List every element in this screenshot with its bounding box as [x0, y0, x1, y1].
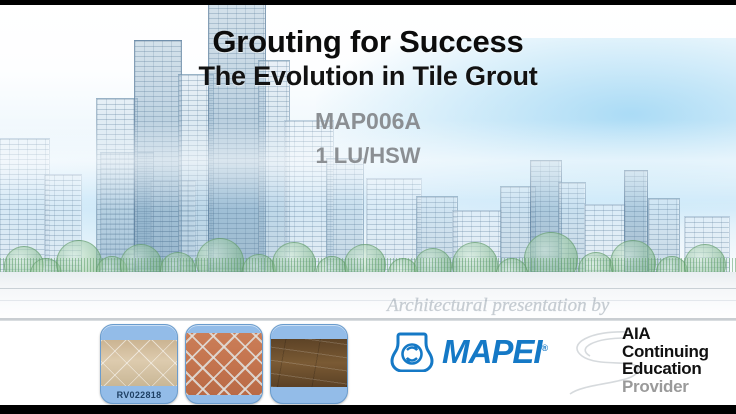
aia-line-1: AIA: [622, 325, 709, 343]
aia-line-4: Provider: [622, 378, 709, 396]
dark-wood-plank-tile-icon: [271, 339, 347, 387]
ground-horizon-line: [0, 288, 736, 289]
tile-thumbnail[interactable]: [270, 324, 348, 404]
footer-divider: [0, 318, 736, 320]
tile-thumbnail[interactable]: [185, 324, 263, 404]
script-caption-text: Architectural presentation by: [385, 295, 610, 316]
aia-line-3: Education: [622, 360, 709, 378]
tile-thumbnail-strip: RV022818: [100, 324, 348, 404]
letterbox-bottom-bar: [0, 405, 736, 414]
page-subtitle: The Evolution in Tile Grout: [0, 61, 736, 92]
beige-diagonal-tile-icon: [101, 340, 177, 386]
tile-thumbnail[interactable]: RV022818: [100, 324, 178, 404]
tile-thumbnail-label: RV022818: [101, 390, 177, 400]
grass-strip: [0, 258, 736, 272]
page-title: Grouting for Success: [0, 24, 736, 60]
mapei-wordmark: MAPEI®: [442, 335, 547, 368]
credit-hours: 1 LU/HSW: [0, 143, 736, 169]
script-caption: Architectural presentation by: [383, 290, 643, 318]
aia-line-2: Continuing: [622, 343, 709, 361]
mapei-logo: MAPEI®: [390, 330, 547, 372]
mapei-swirl-icon: [390, 330, 434, 372]
presentation-title-slide: Grouting for Success The Evolution in Ti…: [0, 0, 736, 414]
aia-provider-logo: AIA Continuing Education Provider: [622, 325, 709, 395]
course-code: MAP006A: [0, 108, 736, 135]
letterbox-top-bar: [0, 0, 736, 5]
terracotta-diagonal-tile-icon: [186, 333, 262, 395]
registered-trademark-icon: ®: [542, 343, 548, 353]
